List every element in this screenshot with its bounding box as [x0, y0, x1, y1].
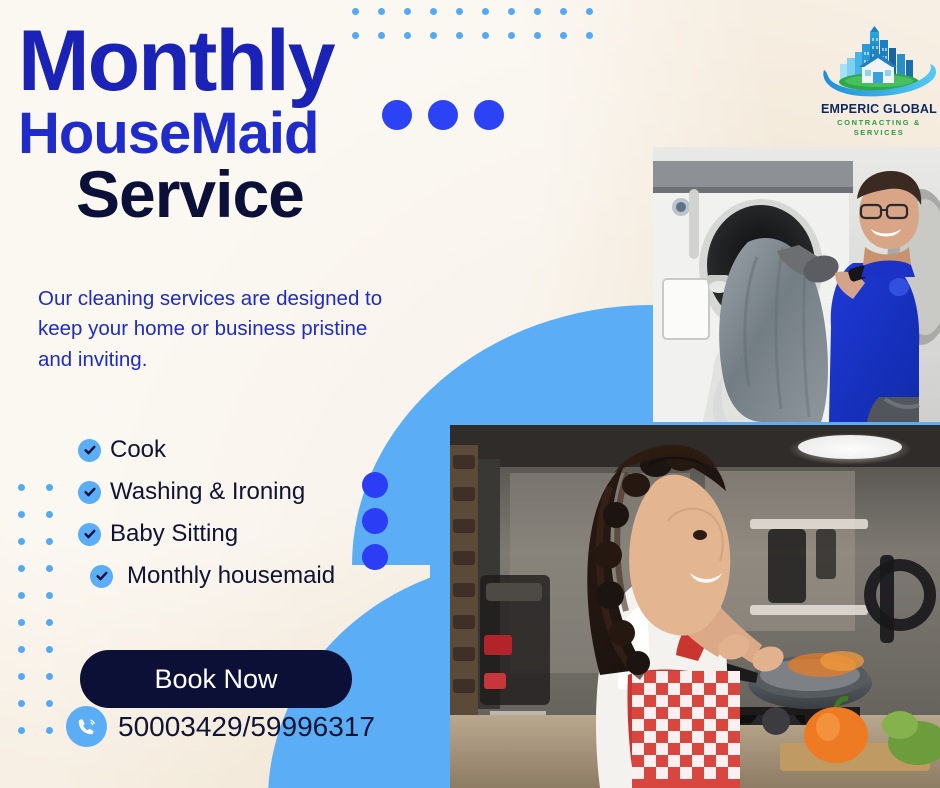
feature-label: Cook	[110, 436, 166, 464]
decorative-dot	[18, 700, 25, 707]
decorative-dot	[482, 32, 489, 39]
decorative-dot	[46, 646, 53, 653]
decorative-dot	[362, 508, 388, 534]
feature-label: Monthly housemaid	[127, 562, 335, 590]
company-logo: EMPERIC GLOBAL CONTRACTING &SERVICES	[818, 26, 940, 138]
contact-row[interactable]: 50003429/59996317	[66, 706, 375, 747]
logo-tagline: CONTRACTING &SERVICES	[818, 118, 940, 138]
decorative-dot	[482, 8, 489, 15]
book-now-button[interactable]: Book Now	[80, 650, 352, 708]
poster-canvas: Monthly HouseMaid Service Our cleaning s…	[0, 0, 940, 788]
feature-item-baby-sitting[interactable]: Baby Sitting	[78, 520, 335, 548]
decorative-dot	[46, 511, 53, 518]
decorative-dot	[456, 32, 463, 39]
decorative-dot	[508, 8, 515, 15]
decorative-dot	[534, 32, 541, 39]
phone-ringing-icon	[66, 706, 107, 747]
decorative-dot	[474, 100, 504, 130]
decorative-dot	[46, 565, 53, 572]
check-icon	[90, 565, 113, 588]
decorative-dot	[534, 8, 541, 15]
headline-line-monthly: Monthly	[18, 22, 438, 101]
decorative-dot	[46, 619, 53, 626]
check-icon	[78, 523, 101, 546]
decorative-dot	[404, 8, 411, 15]
logo-company-name: EMPERIC GLOBAL	[818, 102, 940, 116]
decorative-dot	[378, 8, 385, 15]
decorative-dot	[586, 8, 593, 15]
decorative-dot	[18, 619, 25, 626]
check-icon	[78, 439, 101, 462]
decorative-dot	[18, 673, 25, 680]
feature-item-monthly-housemaid[interactable]: Monthly housemaid	[90, 562, 335, 590]
decorative-dot	[46, 592, 53, 599]
decorative-dot	[46, 538, 53, 545]
decorative-dot	[508, 32, 515, 39]
headline-line-service: Service	[76, 161, 438, 227]
decorative-dot	[18, 565, 25, 572]
headline-line-housemaid: HouseMaid	[18, 105, 438, 163]
feature-label: Baby Sitting	[110, 520, 238, 548]
logo-tagline-line: SERVICES	[818, 128, 940, 138]
decorative-dot	[586, 32, 593, 39]
big-dots-middle	[362, 472, 388, 570]
decorative-dot	[46, 484, 53, 491]
subtitle-text: Our cleaning services are designed to ke…	[38, 284, 388, 375]
feature-list: Cook Washing & Ironing Baby Sitting Mont…	[78, 436, 335, 604]
feature-item-washing-ironing[interactable]: Washing & Ironing	[78, 478, 335, 506]
decorative-dot	[352, 8, 359, 15]
decorative-dot	[18, 592, 25, 599]
decorative-dot	[18, 484, 25, 491]
decorative-dot	[362, 544, 388, 570]
laundry-worker-photo	[653, 147, 940, 422]
decorative-dot	[18, 538, 25, 545]
decorative-dot	[18, 727, 25, 734]
feature-label: Washing & Ironing	[110, 478, 305, 506]
decorative-dot	[46, 700, 53, 707]
decorative-dot	[456, 8, 463, 15]
decorative-dot	[46, 727, 53, 734]
decorative-dot	[18, 511, 25, 518]
phone-number-text: 50003429/59996317	[118, 711, 375, 743]
decorative-dot	[560, 8, 567, 15]
headline-block: Monthly HouseMaid Service	[18, 22, 438, 227]
feature-item-cook[interactable]: Cook	[78, 436, 335, 464]
logo-tagline-line: CONTRACTING &	[818, 118, 940, 128]
cooking-woman-photo	[450, 425, 940, 788]
decorative-dot	[362, 472, 388, 498]
decorative-dot	[560, 32, 567, 39]
decorative-dot	[46, 673, 53, 680]
check-icon	[78, 481, 101, 504]
decorative-dot	[18, 646, 25, 653]
decorative-dot	[430, 8, 437, 15]
